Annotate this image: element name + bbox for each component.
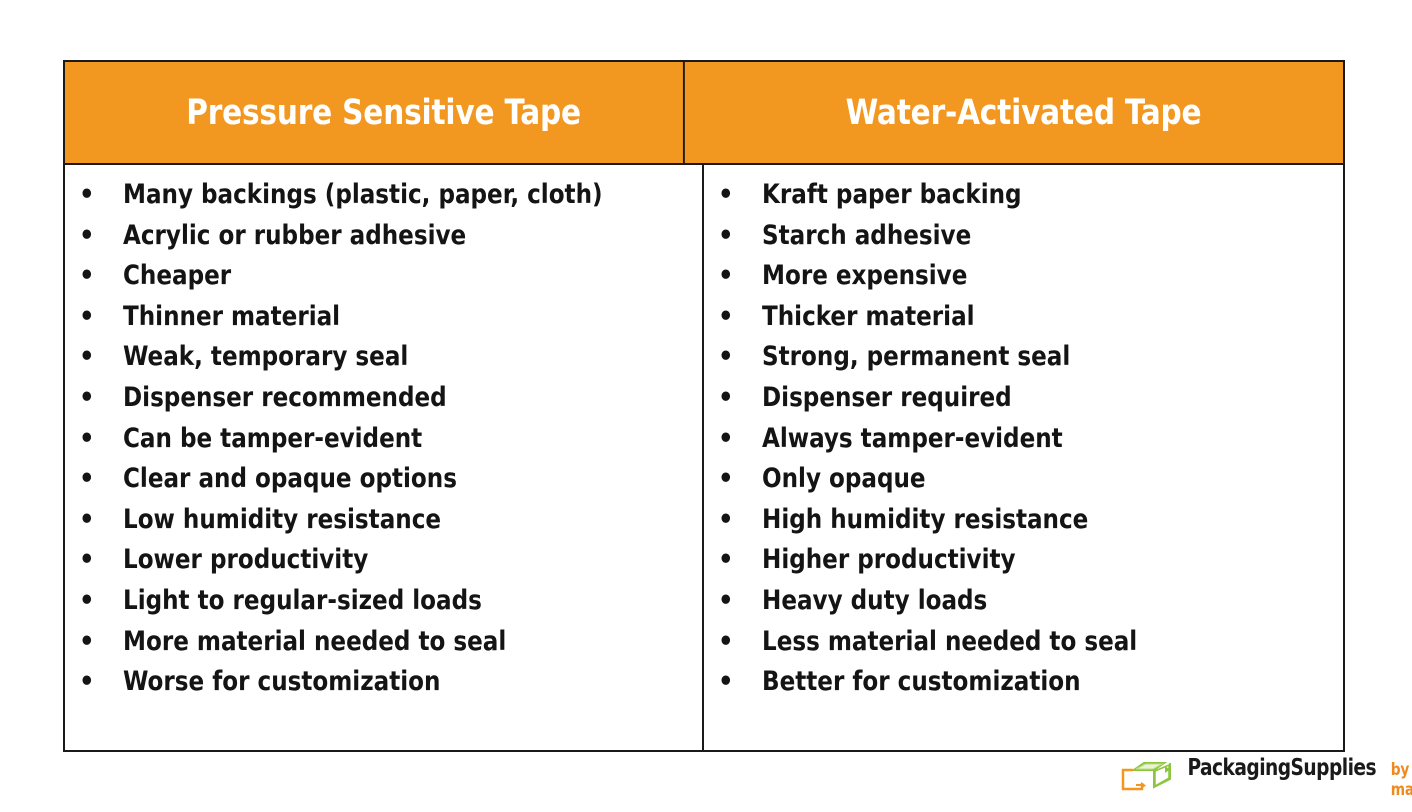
list-item-label: Cheaper xyxy=(123,260,231,291)
list-item: •Dispenser required xyxy=(704,382,1343,423)
column-header-water-activated-tape: Water-Activated Tape xyxy=(723,62,1324,163)
table-body-row: •Many backings (plastic, paper, cloth) •… xyxy=(65,165,1343,750)
column-body-pressure-sensitive-tape: •Many backings (plastic, paper, cloth) •… xyxy=(65,165,704,750)
list-item-label: Starch adhesive xyxy=(762,220,971,251)
bullet-icon: • xyxy=(79,384,91,411)
bullet-icon: • xyxy=(718,425,730,452)
bullet-icon: • xyxy=(79,506,91,533)
bullet-icon: • xyxy=(718,587,730,614)
list-item-label: Dispenser recommended xyxy=(123,382,447,413)
column-header-label: Pressure Sensitive Tape xyxy=(186,93,581,133)
bullet-icon: • xyxy=(718,668,730,695)
bullet-icon: • xyxy=(79,668,91,695)
column-header-label: Water-Activated Tape xyxy=(846,93,1202,133)
column-body-water-activated-tape: •Kraft paper backing •Starch adhesive •M… xyxy=(704,165,1343,750)
bullet-icon: • xyxy=(718,222,730,249)
list-item: •Dispenser recommended xyxy=(65,382,702,423)
list-item-label: More material needed to seal xyxy=(123,626,506,657)
list-item: •Kraft paper backing xyxy=(704,179,1343,220)
bullet-icon: • xyxy=(79,262,91,289)
list-item: •Lower productivity xyxy=(65,544,702,585)
bullet-icon: • xyxy=(79,181,91,208)
bullet-icon: • xyxy=(718,506,730,533)
bullet-icon: • xyxy=(79,465,91,492)
list-item-label: Thicker material xyxy=(762,301,975,332)
list-item: •Less material needed to seal xyxy=(704,626,1343,667)
list-item-label: Can be tamper-evident xyxy=(123,423,422,454)
list-item: •Strong, permanent seal xyxy=(704,341,1343,382)
bullet-icon: • xyxy=(718,181,730,208)
list-item: •Starch adhesive xyxy=(704,220,1343,261)
feature-list-pressure-sensitive: •Many backings (plastic, paper, cloth) •… xyxy=(65,179,702,707)
list-item: •Better for customization xyxy=(704,666,1343,707)
list-item: •Higher productivity xyxy=(704,544,1343,585)
tape-comparison-table: Pressure Sensitive Tape Water-Activated … xyxy=(63,60,1345,752)
list-item-label: Always tamper-evident xyxy=(762,423,1063,454)
list-item: •Worse for customization xyxy=(65,666,702,707)
bullet-icon: • xyxy=(718,343,730,370)
list-item: •Weak, temporary seal xyxy=(65,341,702,382)
list-item-label: Better for customization xyxy=(762,666,1081,697)
list-item-label: Higher productivity xyxy=(762,544,1016,575)
bullet-icon: • xyxy=(79,222,91,249)
list-item-label: Weak, temporary seal xyxy=(123,341,408,372)
list-item-label: Thinner material xyxy=(123,301,340,332)
list-item-label: Low humidity resistance xyxy=(123,504,441,535)
list-item-label: Dispenser required xyxy=(762,382,1012,413)
bullet-icon: • xyxy=(79,628,91,655)
list-item: •Can be tamper-evident xyxy=(65,423,702,464)
logo-sub-text: by mail xyxy=(1390,760,1412,800)
bullet-icon: • xyxy=(718,628,730,655)
list-item: •Low humidity resistance xyxy=(65,504,702,545)
feature-list-water-activated: •Kraft paper backing •Starch adhesive •M… xyxy=(704,179,1343,707)
list-item-label: Kraft paper backing xyxy=(762,179,1022,210)
list-item-label: Acrylic or rubber adhesive xyxy=(123,220,466,251)
list-item-label: Clear and opaque options xyxy=(123,463,457,494)
bullet-icon: • xyxy=(79,425,91,452)
list-item: •Always tamper-evident xyxy=(704,423,1343,464)
list-item-label: More expensive xyxy=(762,260,967,291)
table-header-row: Pressure Sensitive Tape Water-Activated … xyxy=(65,62,1343,165)
list-item: •More expensive xyxy=(704,260,1343,301)
list-item-label: Many backings (plastic, paper, cloth) xyxy=(123,179,603,210)
bullet-icon: • xyxy=(718,303,730,330)
column-header-pressure-sensitive-tape: Pressure Sensitive Tape xyxy=(84,62,685,163)
list-item: •High humidity resistance xyxy=(704,504,1343,545)
list-item-label: Worse for customization xyxy=(123,666,440,697)
list-item-label: Lower productivity xyxy=(123,544,368,575)
list-item: •Heavy duty loads xyxy=(704,585,1343,626)
list-item: •Acrylic or rubber adhesive xyxy=(65,220,702,261)
logo-main-text: PackagingSupplies xyxy=(1187,755,1376,781)
list-item: •Clear and opaque options xyxy=(65,463,702,504)
list-item: •Light to regular-sized loads xyxy=(65,585,702,626)
list-item-label: Heavy duty loads xyxy=(762,585,987,616)
list-item: •Many backings (plastic, paper, cloth) xyxy=(65,179,702,220)
bullet-icon: • xyxy=(718,262,730,289)
list-item: •Only opaque xyxy=(704,463,1343,504)
bullet-icon: • xyxy=(718,465,730,492)
bullet-icon: • xyxy=(718,546,730,573)
list-item: •Cheaper xyxy=(65,260,702,301)
brand-logo[interactable]: PackagingSupplies by mail xyxy=(1120,760,1412,794)
bullet-icon: • xyxy=(718,384,730,411)
bullet-icon: • xyxy=(79,546,91,573)
list-item: •Thinner material xyxy=(65,301,702,342)
open-box-icon xyxy=(1120,761,1172,793)
bullet-icon: • xyxy=(79,587,91,614)
list-item-label: High humidity resistance xyxy=(762,504,1088,535)
list-item-label: Strong, permanent seal xyxy=(762,341,1070,372)
logo-wordmark: PackagingSupplies by mail xyxy=(1177,755,1412,800)
list-item-label: Less material needed to seal xyxy=(762,626,1137,657)
bullet-icon: • xyxy=(79,343,91,370)
list-item-label: Light to regular-sized loads xyxy=(123,585,482,616)
list-item: •More material needed to seal xyxy=(65,626,702,667)
list-item: •Thicker material xyxy=(704,301,1343,342)
bullet-icon: • xyxy=(79,303,91,330)
list-item-label: Only opaque xyxy=(762,463,926,494)
